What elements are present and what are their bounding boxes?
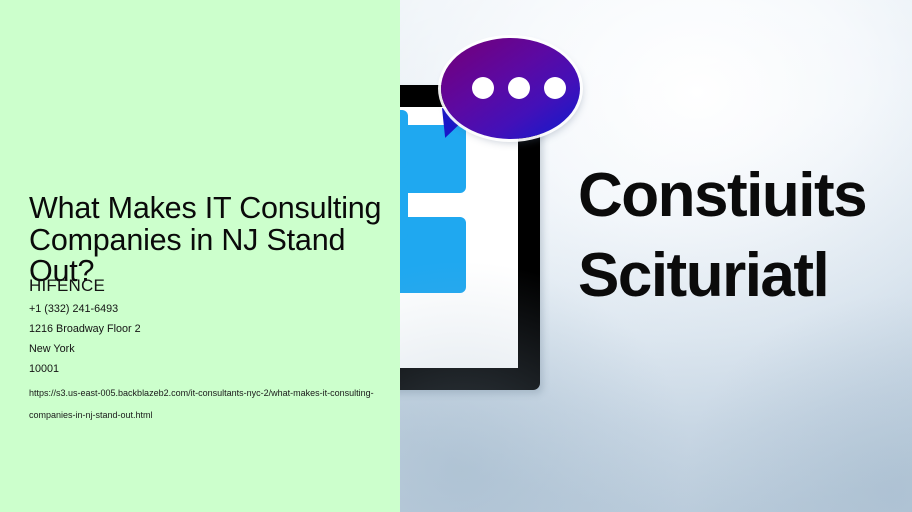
- illustration-headline: Constiuits Scituriatl: [578, 156, 912, 316]
- contact-phone: +1 (332) 241-6493: [29, 303, 118, 316]
- source-url-link[interactable]: https://s3.us-east-005.backblazeb2.com/i…: [29, 382, 377, 426]
- contact-postal-code: 10001: [29, 363, 59, 376]
- right-illustration-panel: Constiuits Scituriatl: [400, 0, 912, 512]
- speech-bubble-icon: [441, 38, 580, 139]
- brand-name: HIFENCE: [29, 276, 105, 296]
- illustration-headline-line: Scituriatl: [578, 236, 912, 316]
- page-title: What Makes IT Consulting Companies in NJ…: [29, 193, 395, 288]
- left-info-panel: What Makes IT Consulting Companies in NJ…: [0, 0, 400, 512]
- promo-graphic: What Makes IT Consulting Companies in NJ…: [0, 0, 912, 512]
- contact-city: New York: [29, 343, 75, 356]
- illustration-headline-line: Constiuits: [578, 156, 912, 236]
- card-tile-icon: [400, 182, 408, 240]
- contact-street-address: 1216 Broadway Floor 2: [29, 323, 141, 336]
- typing-dots-icon: [472, 77, 494, 99]
- card-tile-icon: [400, 217, 466, 293]
- typing-dots-icon: [508, 77, 530, 99]
- typing-dots-icon: [544, 77, 566, 99]
- card-face: [400, 107, 518, 368]
- card-tile-icon: [400, 110, 408, 168]
